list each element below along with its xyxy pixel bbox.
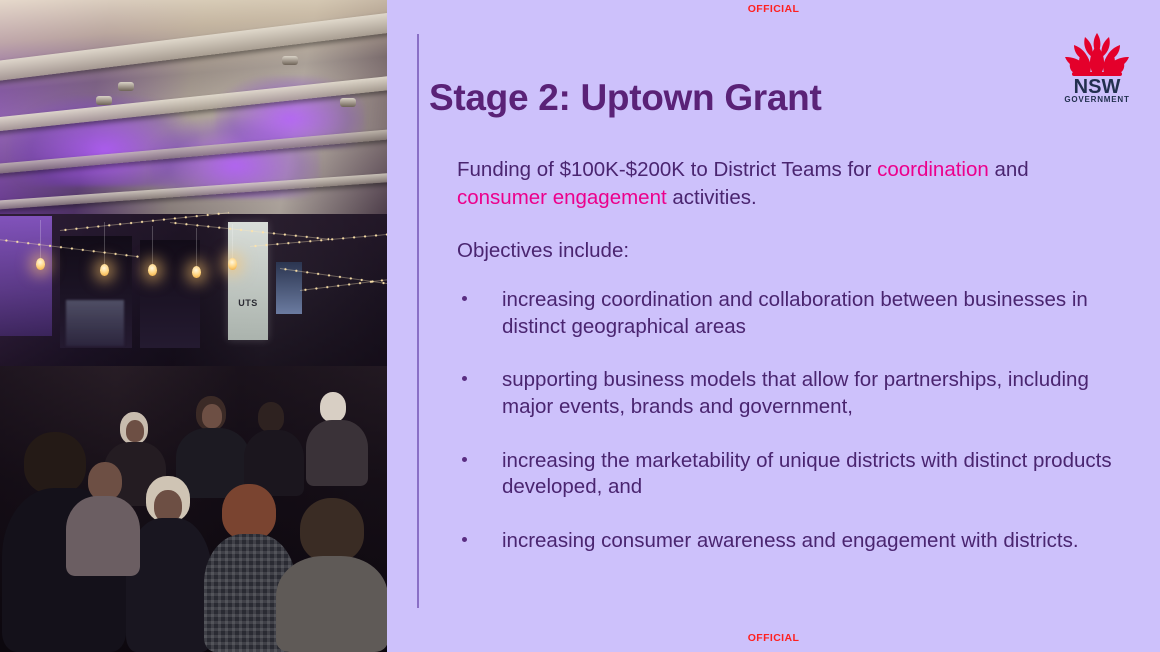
person-head (24, 432, 86, 494)
bulb-wire (196, 228, 197, 266)
page-title: Stage 2: Uptown Grant (429, 77, 822, 119)
list-item: supporting business models that allow fo… (457, 367, 1117, 420)
classification-marking-top: OFFICIAL (387, 3, 1160, 15)
venue-screen (66, 300, 124, 346)
list-item-text: increasing consumer awareness and engage… (502, 529, 1079, 552)
bulb-wire (232, 224, 233, 258)
list-item-text: increasing coordination and collaboratio… (502, 288, 1088, 338)
pendant-bulb (36, 258, 45, 270)
highlight-consumer-engagement: consumer engagement (457, 186, 667, 209)
purple-lit-wall (0, 216, 52, 336)
slide: OFFICIAL OFFICIAL (0, 0, 1160, 652)
venue-doorway (140, 240, 200, 348)
ceiling-spotlight (282, 56, 298, 65)
ceiling-spotlight (118, 82, 134, 91)
bullet-icon (462, 537, 467, 542)
highlight-coordination: coordination (877, 158, 989, 181)
person-face (88, 462, 122, 500)
person-head (300, 498, 364, 562)
person-face (126, 420, 144, 442)
pendant-bulb (192, 266, 201, 278)
lead-paragraph: Funding of $100K-$200K to District Teams… (457, 156, 1117, 211)
pendant-bulb (228, 258, 237, 270)
person-head (258, 402, 284, 432)
nsw-government-logo: NSW GOVERNMENT (1057, 27, 1137, 107)
pendant-bulb (148, 264, 157, 276)
bullet-icon (462, 296, 467, 301)
lead-part3: activities. (667, 186, 757, 209)
bulb-wire (40, 220, 41, 258)
person-body (306, 420, 368, 486)
person-head (320, 392, 346, 422)
ceiling-beam (0, 8, 387, 84)
list-item-text: increasing the marketability of unique d… (502, 449, 1112, 499)
objectives-list: increasing coordination and collaboratio… (457, 287, 1117, 554)
bullet-icon (462, 376, 467, 381)
photo-crowd-region (0, 366, 387, 652)
vertical-divider (417, 34, 419, 608)
objectives-label: Objectives include: (457, 237, 1117, 265)
waratah-icon: NSW GOVERNMENT (1057, 27, 1137, 107)
event-photo (0, 0, 387, 652)
bullet-icon (462, 457, 467, 462)
bulb-wire (104, 222, 105, 264)
list-item: increasing the marketability of unique d… (457, 448, 1117, 501)
pendant-bulb (100, 264, 109, 276)
person-body (66, 496, 140, 576)
slide-body: Funding of $100K-$200K to District Teams… (457, 156, 1117, 582)
list-item-text: supporting business models that allow fo… (502, 368, 1089, 418)
slide-content: OFFICIAL OFFICIAL (387, 0, 1160, 652)
ceiling-spotlight (96, 96, 112, 105)
person-face (202, 404, 222, 428)
list-item: increasing consumer awareness and engage… (457, 528, 1117, 555)
person-body (276, 556, 387, 652)
bulb-wire (152, 226, 153, 264)
government-subtext: GOVERNMENT (1064, 95, 1129, 104)
uts-banner (228, 222, 268, 340)
photo-ceiling-region (0, 0, 387, 232)
person-head (222, 484, 276, 540)
classification-marking-bottom: OFFICIAL (387, 632, 1160, 644)
lead-part1: Funding of $100K-$200K to District Teams… (457, 158, 877, 181)
list-item: increasing coordination and collaboratio… (457, 287, 1117, 340)
lead-part2: and (989, 158, 1029, 181)
ceiling-spotlight (340, 98, 356, 107)
